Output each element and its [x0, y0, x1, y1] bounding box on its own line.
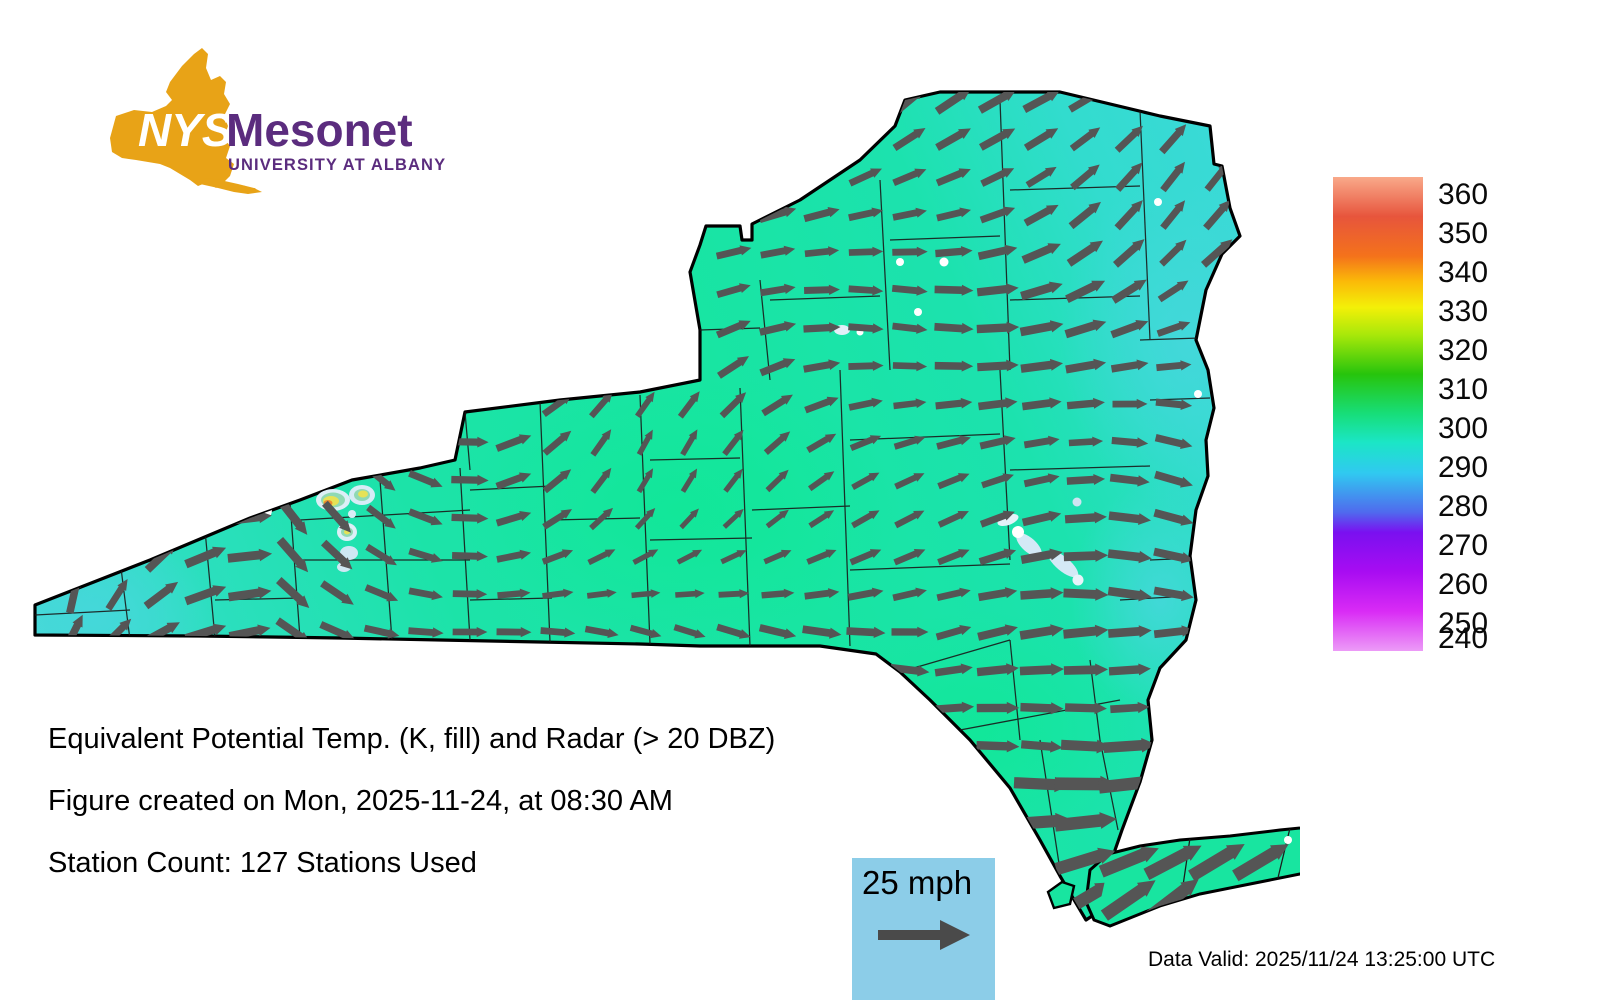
colorbar-tick-260: 260 — [1438, 570, 1488, 600]
colorbar-gradient — [1333, 177, 1423, 651]
wind-reference-legend: 25 mph — [852, 858, 995, 1000]
colorbar-tick-330: 330 — [1438, 297, 1488, 327]
figure-title: Equivalent Potential Temp. (K, fill) and… — [48, 723, 775, 756]
colorbar-tick-280: 280 — [1438, 492, 1488, 522]
colorbar-tick-340: 340 — [1438, 258, 1488, 288]
wind-legend-arrow-icon — [878, 918, 974, 957]
colorbar-tick-240: 240 — [1438, 624, 1488, 654]
colorbar — [1333, 177, 1423, 651]
data-valid-text: Data Valid: 2025/11/24 13:25:00 UTC — [1148, 948, 1495, 972]
station-count-text: Station Count: 127 Stations Used — [48, 847, 477, 880]
colorbar-tick-290: 290 — [1438, 453, 1488, 483]
colorbar-tick-320: 320 — [1438, 336, 1488, 366]
wind-legend-label: 25 mph — [862, 864, 972, 902]
colorbar-tick-310: 310 — [1438, 375, 1488, 405]
figure-created-text: Figure created on Mon, 2025-11-24, at 08… — [48, 785, 673, 818]
colorbar-tick-360: 360 — [1438, 180, 1488, 210]
colorbar-tick-350: 350 — [1438, 219, 1488, 249]
colorbar-tick-300: 300 — [1438, 414, 1488, 444]
colorbar-tick-270: 270 — [1438, 531, 1488, 561]
